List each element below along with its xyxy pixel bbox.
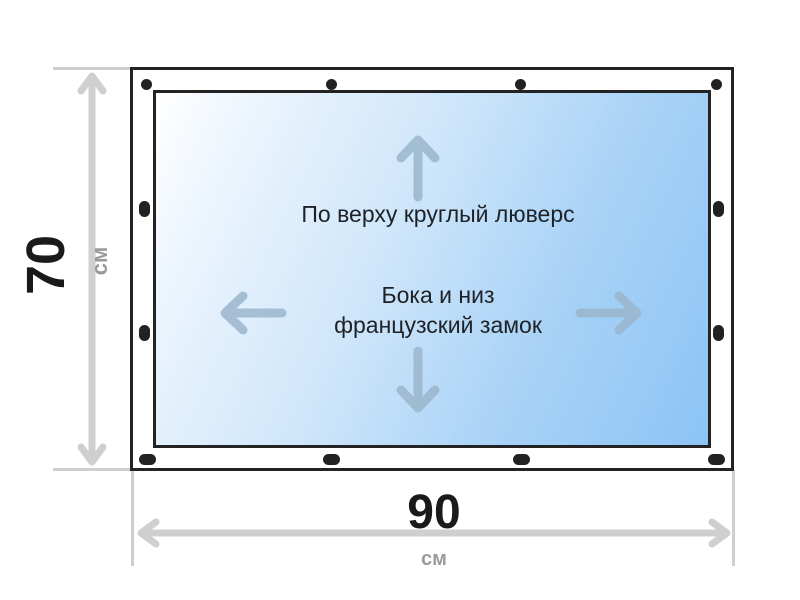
arrow-up-icon: [396, 133, 440, 203]
width-dimension-value: 90: [0, 489, 800, 537]
grommet-right-1: [713, 201, 724, 217]
grommet-bottom-3: [513, 454, 530, 465]
caption-bottom-line2: французский замок: [156, 311, 720, 340]
grommet-left-1: [139, 201, 150, 217]
grommet-top-2: [326, 79, 337, 90]
arrow-down-icon: [396, 345, 440, 415]
grommet-bottom-2: [323, 454, 340, 465]
caption-bottom-line1: Бока и низ: [156, 281, 720, 310]
caption-top: По верху круглый люверс: [156, 200, 720, 229]
grommet-right-2: [713, 325, 724, 341]
product-frame: По верху круглый люверс Бока и низ франц…: [130, 67, 734, 471]
height-dimension-unit: см: [89, 238, 111, 284]
height-dimension-value: 70: [19, 235, 73, 295]
grommet-bottom-1: [139, 454, 156, 465]
grommet-top-4: [711, 79, 722, 90]
product-panel: По верху круглый люверс Бока и низ франц…: [153, 90, 711, 448]
grommet-bottom-4: [708, 454, 725, 465]
grommet-top-1: [141, 79, 152, 90]
diagram-canvas: 70 см 90 см: [0, 0, 800, 600]
width-dimension-unit: см: [0, 549, 800, 569]
grommet-top-3: [515, 79, 526, 90]
extension-line-bottom-left: [53, 468, 135, 471]
grommet-left-2: [139, 325, 150, 341]
